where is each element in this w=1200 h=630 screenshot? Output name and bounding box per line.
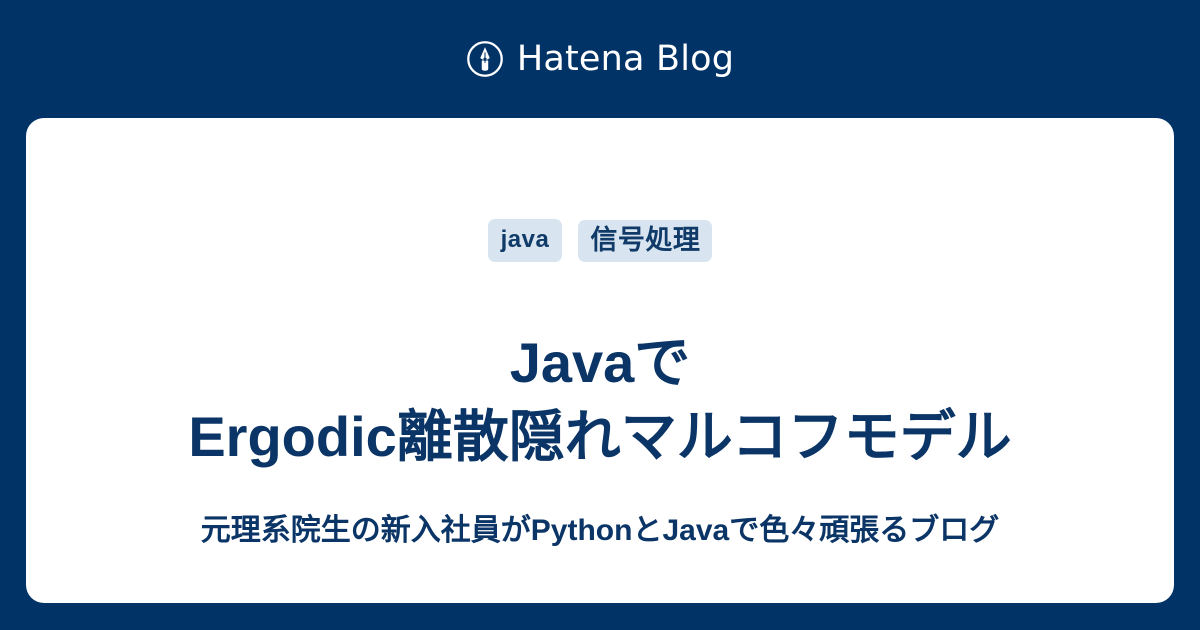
share-card-background: Hatena Blog java 信号処理 Javaで Ergodic離散隠れマ…: [0, 0, 1200, 630]
pen-nib-circle-icon: [466, 40, 504, 78]
site-header: Hatena Blog: [0, 0, 1200, 118]
entry-card: java 信号処理 Javaで Ergodic離散隠れマルコフモデル 元理系院生…: [26, 118, 1174, 603]
tag-chip-signal-processing[interactable]: 信号処理: [578, 220, 712, 262]
blog-description: 元理系院生の新入社員がPythonとJavaで色々頑張るブログ: [26, 511, 1174, 551]
tag-list: java 信号処理: [26, 219, 1174, 262]
entry-title: Javaで Ergodic離散隠れマルコフモデル: [26, 326, 1174, 474]
entry-title-line-1: Javaで: [86, 326, 1114, 400]
brand-name: Hatena Blog: [517, 40, 734, 78]
tag-chip-java[interactable]: java: [488, 219, 563, 262]
entry-title-line-2: Ergodic離散隠れマルコフモデル: [86, 400, 1114, 474]
